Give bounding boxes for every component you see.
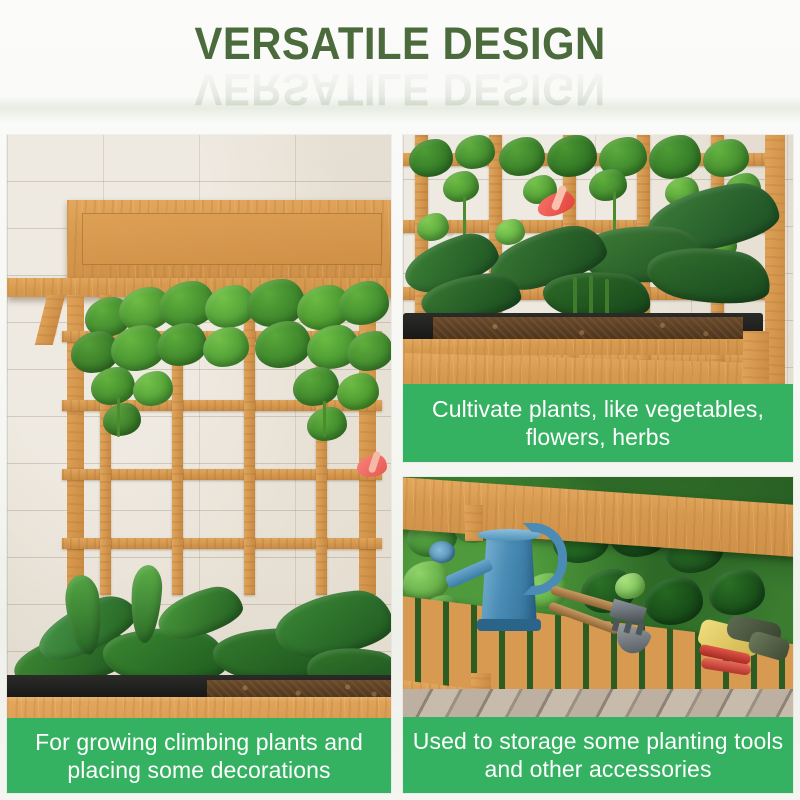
feature-panel-bottom-right[interactable]: Used to storage some planting tools and … — [403, 477, 793, 793]
planter-box-rim — [403, 339, 751, 355]
panel-bottom-right-caption: Used to storage some planting tools and … — [403, 717, 793, 793]
product-feature-poster: VERSATILE DESIGN VERSATILE DESIGN — [0, 0, 800, 800]
page-title: VERSATILE DESIGN — [0, 18, 800, 70]
panel-left-caption: For growing climbing plants and placing … — [7, 718, 391, 793]
feature-panel-grid: For growing climbing plants and placing … — [7, 135, 793, 793]
panel-top-right-caption: Cultivate plants, like vegetables, flowe… — [403, 384, 793, 462]
poster-header: VERSATILE DESIGN VERSATILE DESIGN — [0, 0, 800, 128]
scene-trellis-planter-against-stone-wall-with-climbing-pothos — [7, 135, 391, 793]
feature-panel-top-right[interactable]: Cultivate plants, like vegetables, flowe… — [403, 135, 793, 462]
wood-back-panel-inset — [82, 213, 382, 265]
planter-soil — [433, 317, 743, 341]
header-divider-band — [0, 96, 800, 122]
feature-panel-left[interactable]: For growing climbing plants and placing … — [7, 135, 391, 793]
page-title-text: VERSATILE DESIGN — [194, 18, 605, 70]
